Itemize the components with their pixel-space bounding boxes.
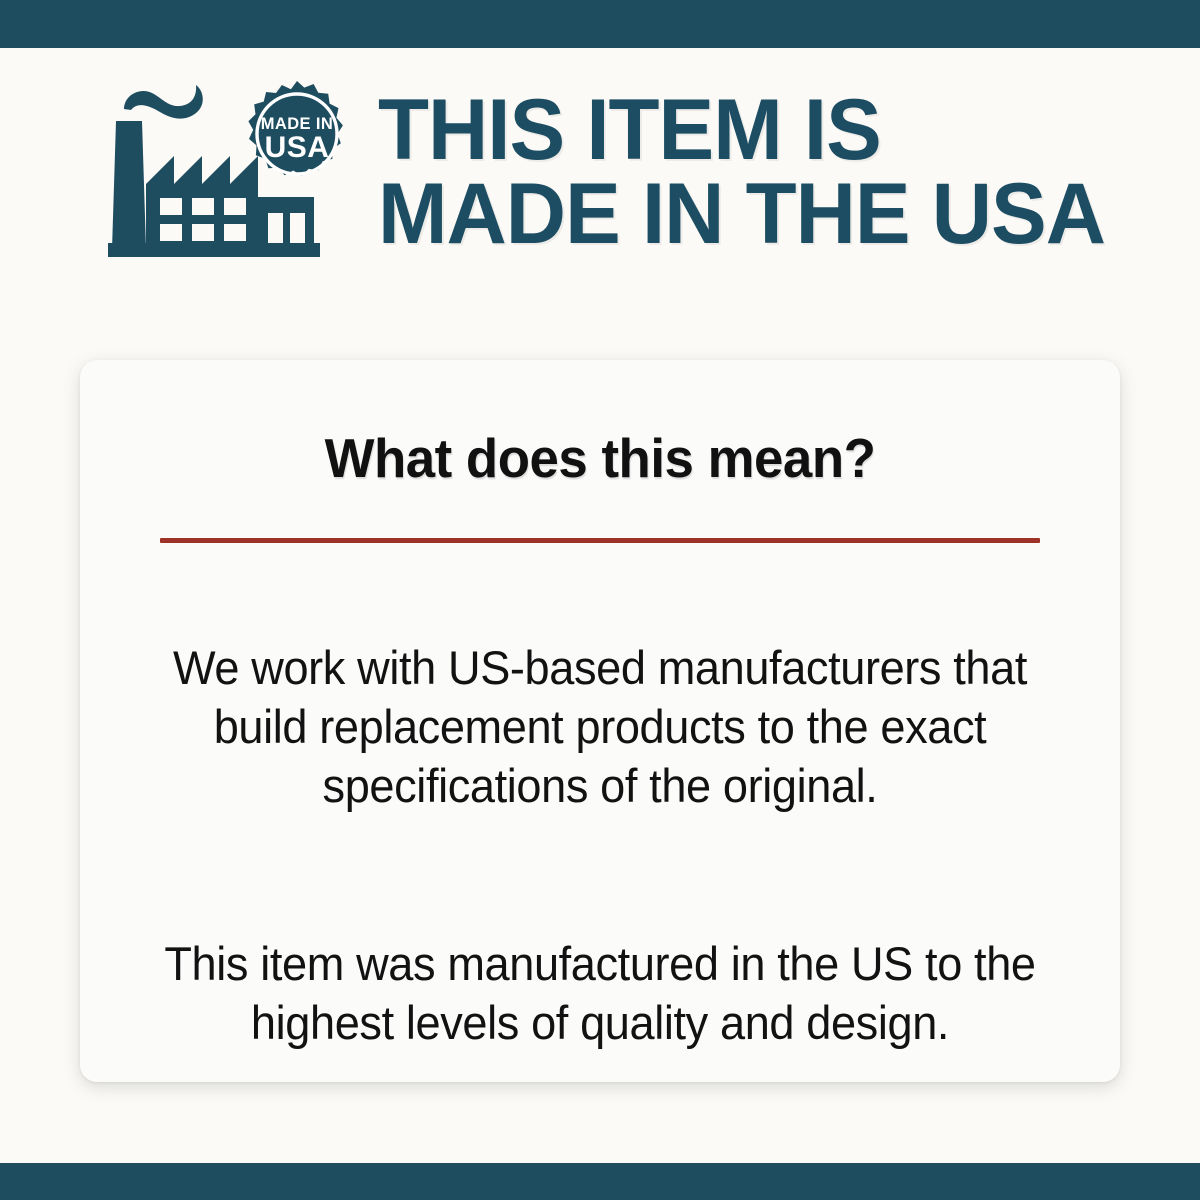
factory-icon: MADE IN USA xyxy=(100,77,350,267)
made-in-usa-badge-icon: MADE IN USA xyxy=(248,81,342,176)
title-divider xyxy=(160,538,1040,543)
headline-line-1: THIS ITEM IS xyxy=(378,88,1105,172)
headline-line-2: MADE IN THE USA xyxy=(378,172,1105,256)
header: MADE IN USA THIS ITEM IS MADE IN THE USA xyxy=(0,52,1200,292)
page-title: THIS ITEM IS MADE IN THE USA xyxy=(378,88,1105,257)
info-card: What does this mean? We work with US-bas… xyxy=(80,360,1120,1082)
body-paragraph-2: This item was manufactured in the US to … xyxy=(139,935,1061,1053)
top-brand-bar xyxy=(0,0,1200,48)
card-body: We work with US-based manufacturers that… xyxy=(120,592,1080,1082)
bottom-brand-bar xyxy=(0,1163,1200,1200)
svg-text:USA: USA xyxy=(265,131,330,164)
card-title: What does this mean? xyxy=(101,426,1099,490)
body-paragraph-1: We work with US-based manufacturers that… xyxy=(139,639,1061,815)
